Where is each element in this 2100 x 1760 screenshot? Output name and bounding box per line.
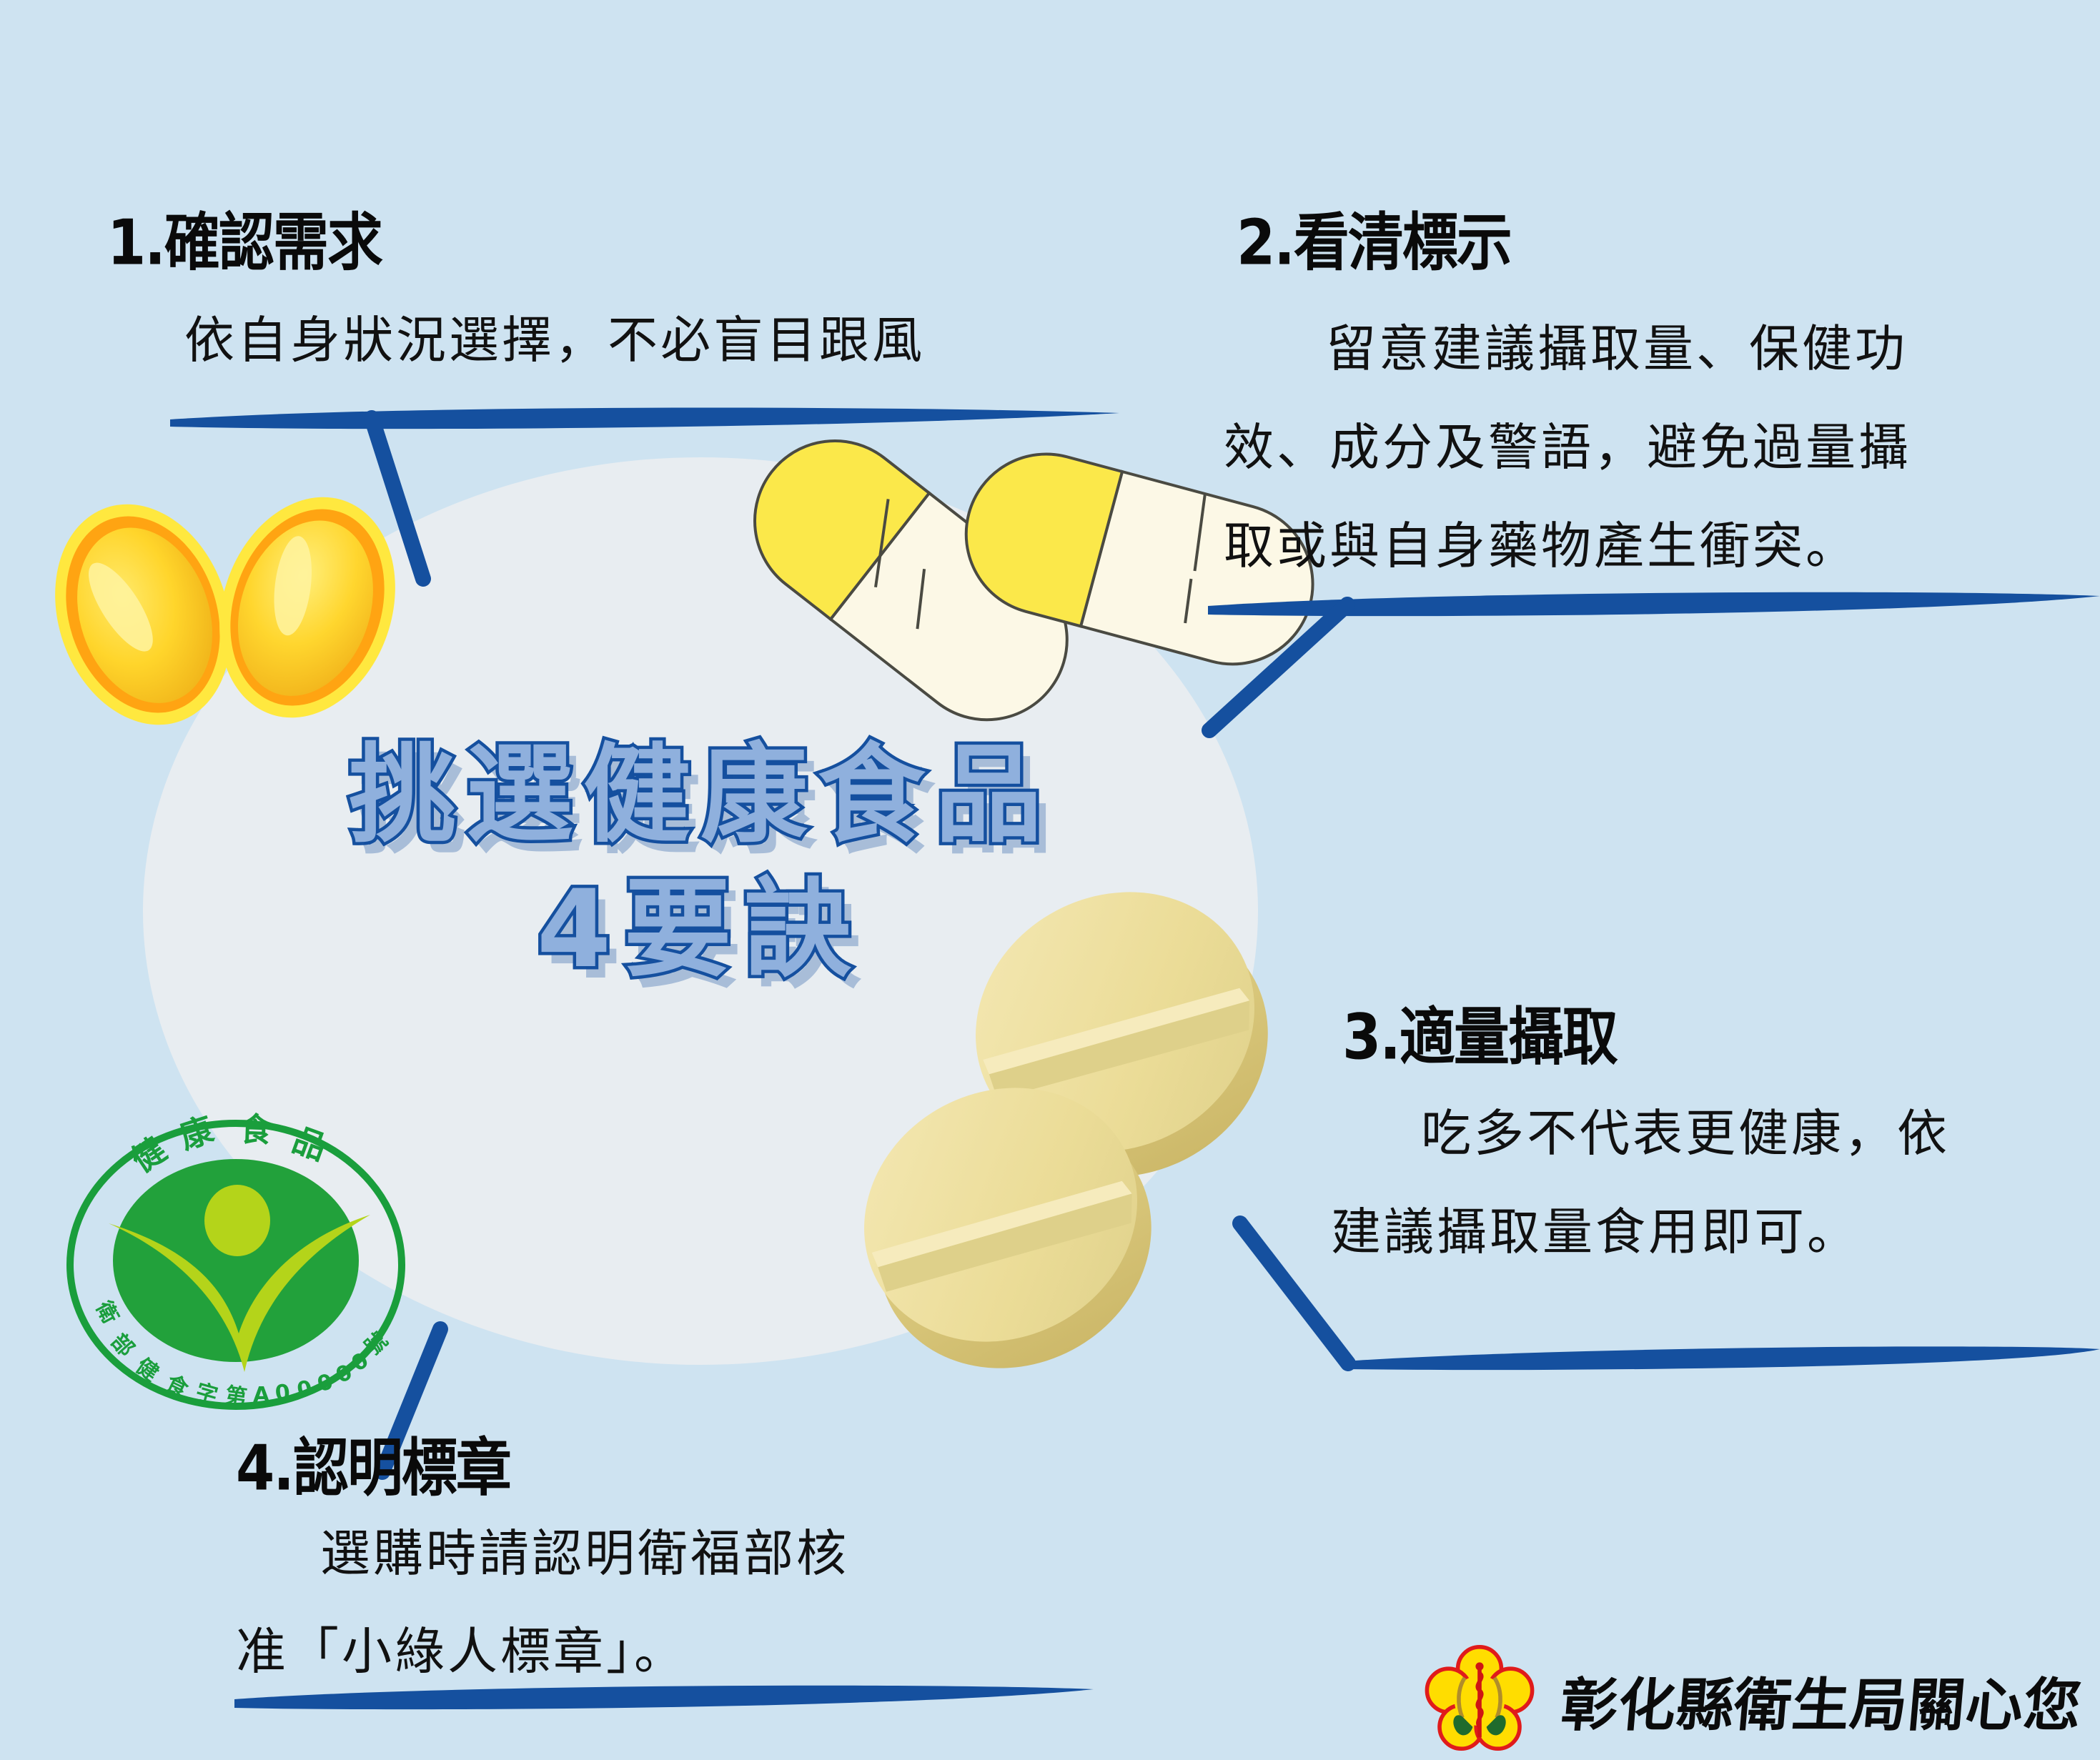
section-3-line-1: 吃多不代表更健康，依 — [1421, 1093, 1950, 1165]
svg-text:號: 號 — [360, 1328, 393, 1361]
underline-section-2 — [1208, 592, 2100, 616]
center-title-line-1: 挑選健康食品 — [0, 729, 1401, 863]
section-2-line-2: 效、成分及警語，避免過量攝 — [1224, 407, 1911, 479]
svg-text:0: 0 — [332, 1360, 357, 1389]
svg-text:食: 食 — [162, 1371, 192, 1403]
svg-text:健: 健 — [131, 1353, 163, 1386]
section-2-heading: 2.看清標示 — [1237, 193, 1511, 282]
svg-text:字: 字 — [193, 1379, 220, 1409]
underline-section-3 — [1344, 1346, 2100, 1370]
svg-text:A: A — [253, 1383, 270, 1408]
footer-text: 彰化縣衛生局關心您 — [1557, 1659, 2086, 1742]
center-title-line-2: 4要訣 — [0, 863, 1401, 998]
footer: 彰化縣衛生局關心您 — [1422, 1644, 2082, 1758]
section-3-line-2: 建議攝取量食用即可。 — [1331, 1192, 1860, 1264]
svg-text:0: 0 — [294, 1376, 314, 1403]
connector-section-2 — [1209, 605, 1347, 730]
underline-section-4 — [234, 1686, 1094, 1709]
svg-text:部: 部 — [106, 1329, 139, 1362]
svg-text:健: 健 — [124, 1130, 173, 1180]
svg-text:第: 第 — [224, 1383, 249, 1411]
section-2-line-3: 取或與自身藥物產生衝突。 — [1224, 506, 1858, 578]
section-1-line-1: 依自身狀況選擇，不必盲目跟風 — [184, 300, 925, 372]
svg-text:0: 0 — [314, 1369, 337, 1398]
section-2-line-1: 留意建議攝取量、保健功 — [1326, 309, 1908, 381]
svg-text:衛: 衛 — [90, 1296, 122, 1328]
changhua-health-bureau-logo — [1422, 1644, 1537, 1758]
underline-section-1 — [170, 408, 1119, 429]
center-title: 挑選健康食品 4要訣 — [0, 729, 1401, 997]
section-4-line-2: 准「小綠人標章」。 — [236, 1611, 687, 1684]
section-3-heading: 3.適量攝取 — [1342, 988, 1617, 1077]
svg-text:0: 0 — [274, 1380, 291, 1406]
section-1-heading: 1.確認需求 — [107, 193, 382, 282]
svg-text:0: 0 — [347, 1348, 373, 1377]
section-4-heading: 4.認明標章 — [236, 1418, 510, 1508]
section-4-line-1: 選購時請認明衛福部核 — [320, 1513, 849, 1586]
poster-canvas: 健 康 食 品 衛 部 健 食 字 第 A 0 0 0 0 0 號 — [0, 0, 2100, 1760]
